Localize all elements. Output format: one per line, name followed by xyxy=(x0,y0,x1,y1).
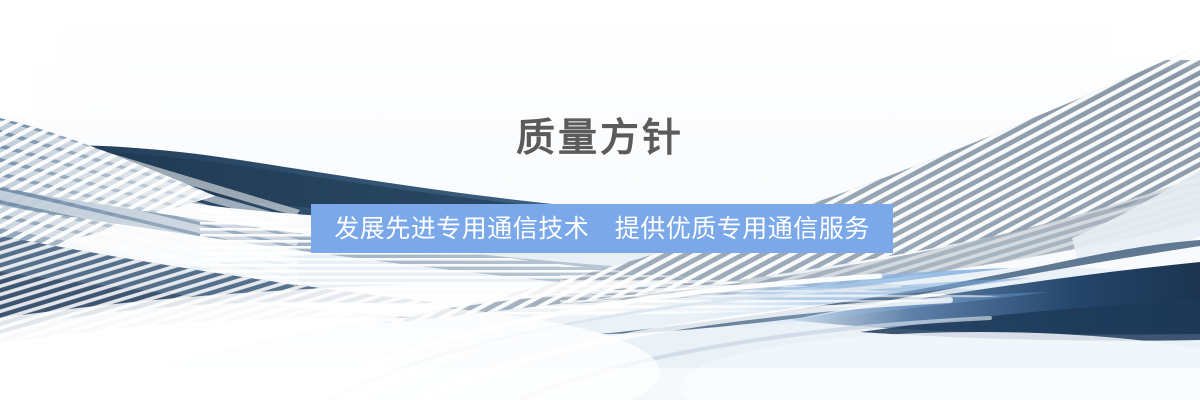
slogan-text: 发展先进专用通信技术 提供优质专用通信服务 xyxy=(334,214,870,244)
abstract-wave-background xyxy=(0,0,1200,400)
slogan-bar: 发展先进专用通信技术 提供优质专用通信服务 xyxy=(311,204,893,253)
page-title: 质量方针 xyxy=(0,116,1200,162)
quality-policy-banner: 质量方针 发展先进专用通信技术 提供优质专用通信服务 xyxy=(0,0,1200,400)
